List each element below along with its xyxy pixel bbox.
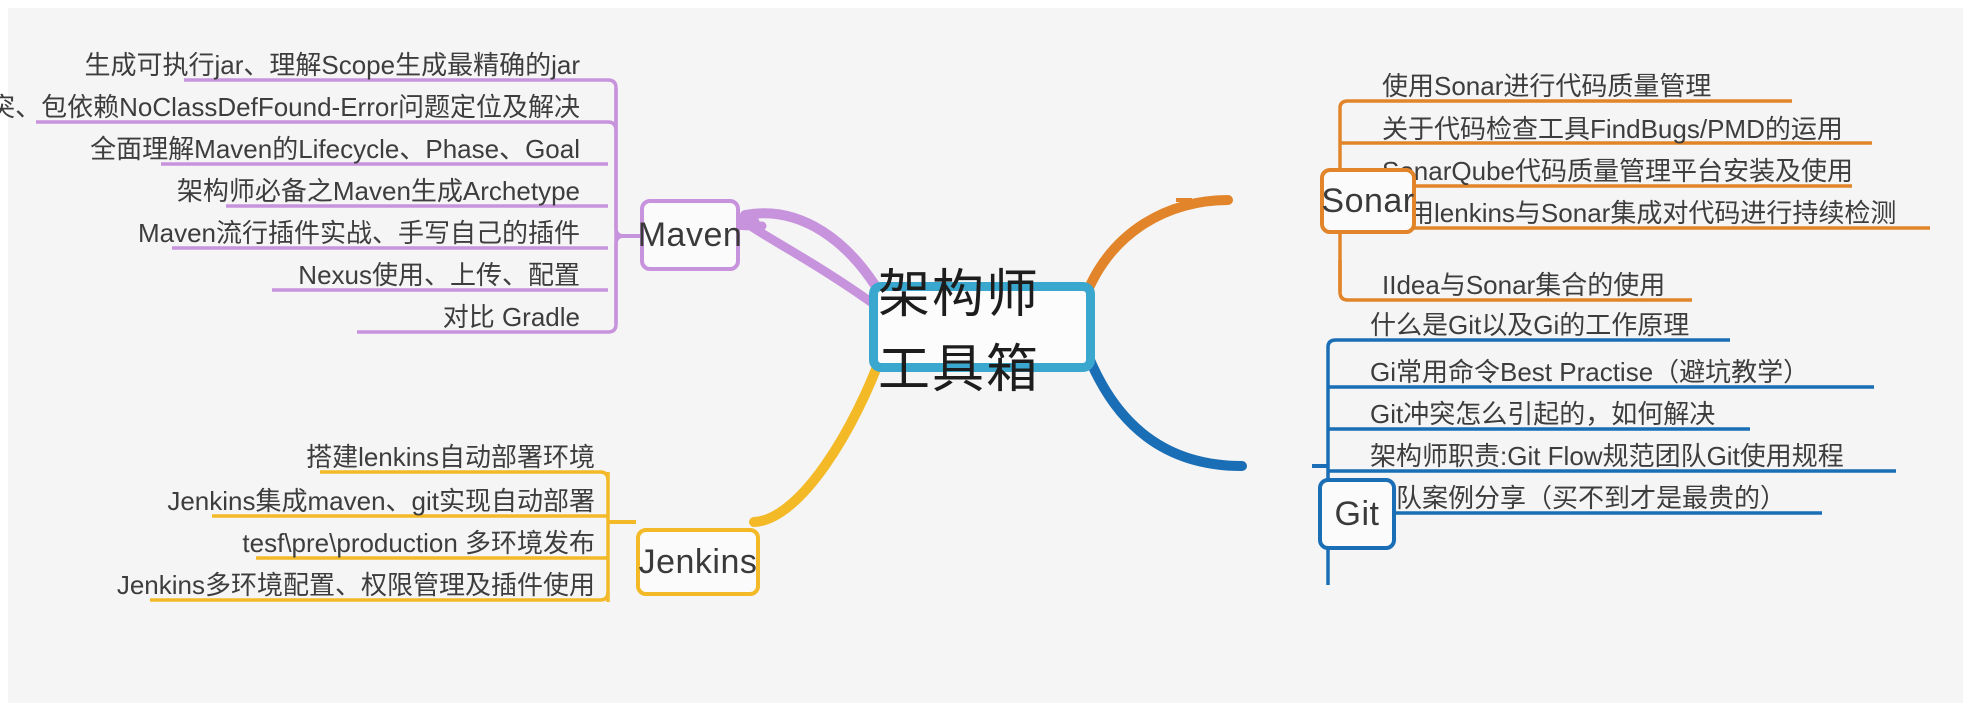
mindmap-canvas: 架构师工具箱 Maven Sonar Git Jenkins 生成可执行jar、… <box>0 0 1971 715</box>
leaf-sonar-1[interactable]: 关于代码检查工具FindBugs/PMD的运用 <box>1382 116 1843 142</box>
branch-node-git-label: Git <box>1335 495 1380 534</box>
leaf-git-3[interactable]: 架构师职责:Git Flow规范团队Git使用规程 <box>1370 443 1844 469</box>
leaf-maven-6[interactable]: 对比 Gradle <box>443 304 580 330</box>
branch-node-sonar-label: Sonar <box>1321 182 1414 221</box>
sonar-to-center <box>1084 200 1228 300</box>
leaf-sonar-3[interactable]: 使用lenkins与Sonar集成对代码进行持续检测 <box>1382 200 1896 226</box>
git-leaf-line-0 <box>1328 340 1730 347</box>
leaf-sonar-0[interactable]: 使用Sonar进行代码质量管理 <box>1382 73 1711 99</box>
leaf-maven-0[interactable]: 生成可执行jar、理解Scope生成最精确的jar <box>84 52 580 78</box>
leaf-git-4[interactable]: 团队案例分享（买不到才是最贵的） <box>1370 485 1786 511</box>
leaf-maven-4[interactable]: Maven流行插件实战、手写自己的插件 <box>138 220 580 246</box>
maven-to-center <box>745 213 884 300</box>
leaf-maven-1[interactable]: 类冲突、包依赖NoClassDefFound-Error问题定位及解决 <box>0 94 580 120</box>
branch-node-jenkins[interactable]: Jenkins <box>636 528 760 596</box>
git-to-center <box>1084 345 1242 466</box>
leaf-jenkins-3[interactable]: Jenkins多环境配置、权限管理及插件使用 <box>117 572 595 598</box>
maven-leaf-line-1 <box>36 122 616 130</box>
leaf-sonar-2[interactable]: SonarQube代码质量管理平台安装及使用 <box>1382 158 1853 184</box>
branch-node-maven[interactable]: Maven <box>640 199 740 271</box>
frame-bottom-border <box>0 703 1971 715</box>
center-node-label: 架构师工具箱 <box>878 252 1086 402</box>
frame-right-border <box>1963 0 1971 715</box>
leaf-maven-5[interactable]: Nexus使用、上传、配置 <box>298 262 580 288</box>
branch-node-git[interactable]: Git <box>1318 478 1396 550</box>
leaf-jenkins-1[interactable]: Jenkins集成maven、git实现自动部署 <box>167 488 595 514</box>
leaf-maven-3[interactable]: 架构师必备之Maven生成Archetype <box>177 178 580 204</box>
leaf-maven-2[interactable]: 全面理解Maven的Lifecycle、Phase、Goal <box>90 136 580 162</box>
leaf-jenkins-2[interactable]: tesf\pre\production 多环境发布 <box>242 530 595 556</box>
jenkins-leaf-line-0 <box>320 472 608 480</box>
leaf-sonar-4[interactable]: IIdea与Sonar集合的使用 <box>1382 272 1665 298</box>
jenkins-connectors <box>150 348 884 602</box>
maven-trunk-curve <box>747 221 882 310</box>
frame-top-border <box>0 0 1971 8</box>
branch-node-maven-label: Maven <box>638 216 743 255</box>
sonar-leaf-line-0 <box>1340 101 1792 108</box>
leaf-git-0[interactable]: 什么是Git以及Gi的工作原理 <box>1370 312 1689 338</box>
jenkins-to-center <box>754 348 884 522</box>
leaf-jenkins-0[interactable]: 搭建lenkins自动部署环境 <box>306 444 595 470</box>
branch-node-sonar[interactable]: Sonar <box>1320 168 1416 234</box>
leaf-git-1[interactable]: Gi常用命令Best Practise（避坑教学） <box>1370 359 1809 385</box>
branch-node-jenkins-label: Jenkins <box>639 543 758 582</box>
center-node[interactable]: 架构师工具箱 <box>869 282 1095 372</box>
leaf-git-2[interactable]: Git冲突怎么引起的，如何解决 <box>1370 401 1715 427</box>
